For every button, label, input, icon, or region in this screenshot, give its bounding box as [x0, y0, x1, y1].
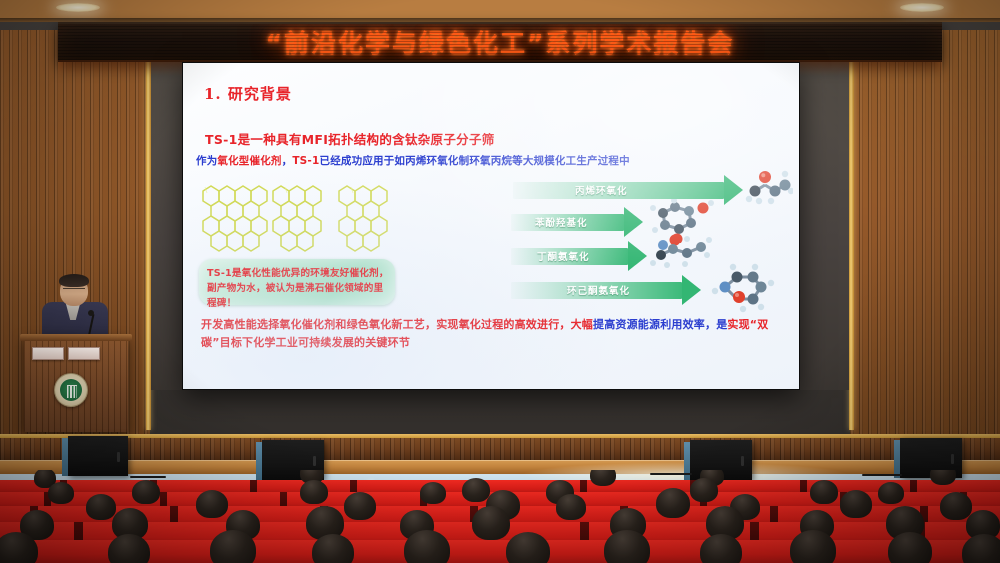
- subline-seg-5: 已经成功应用于如丙烯环氧化制环氧丙烷等大规模化工生产过程中: [320, 155, 630, 167]
- molecule-model: [699, 261, 789, 313]
- reaction-row: 丁酮氨氧化: [511, 241, 647, 271]
- subline-seg-2: 氧化型催化剂: [217, 155, 281, 167]
- audience-head: [132, 480, 160, 504]
- audience-head: [108, 534, 150, 563]
- audience-head: [888, 532, 932, 563]
- audience-head: [196, 490, 228, 518]
- slide-section-title: 1. 研究背景: [204, 83, 292, 104]
- audience-head: [210, 530, 256, 563]
- audience-head: [48, 482, 74, 504]
- lectern-top-edge: [20, 334, 132, 341]
- reaction-row: 环己酮氨氧化: [511, 275, 701, 305]
- zeolite-framework-image: [195, 179, 415, 264]
- audience-head: [556, 494, 586, 520]
- subline-seg-1: 作为: [196, 155, 217, 167]
- ceiling-light-right: [900, 3, 944, 12]
- audience-head: [810, 480, 838, 504]
- audience-head: [590, 470, 616, 486]
- glasses-icon: [63, 288, 85, 293]
- subline-seg-4: TS-1: [292, 155, 319, 167]
- callout-seg-3: 产物为水，被认为是沸石催化领域的里程碑！: [207, 283, 383, 309]
- subline-seg-3: ，: [282, 155, 293, 167]
- nameplate-right: [68, 347, 100, 360]
- audience-head: [940, 492, 972, 520]
- reaction-label: 苯酚羟基化: [535, 215, 588, 229]
- wood-wall-panel-right: [850, 30, 1000, 435]
- audience-head: [506, 532, 550, 563]
- audience-head: [420, 482, 446, 504]
- reaction-row: 苯酚羟基化: [511, 207, 643, 237]
- conclusion-seg-1: 开发高性能选择氧化催化剂和绿色氧化新工艺，实现氧化过程的高效进行，大幅: [201, 318, 593, 331]
- gold-trim-right: [849, 30, 854, 430]
- reaction-label: 丙烯环氧化: [575, 183, 628, 197]
- seat-row: [0, 540, 1000, 563]
- audience-head: [930, 470, 956, 485]
- audience-head: [344, 492, 376, 520]
- highlight-callout-box: TS-1是氧化性能优异的环境友好催化剂，副产物为水，被认为是沸石催化领域的里程碑…: [199, 259, 395, 305]
- molecule-model: [741, 165, 793, 213]
- audience-head: [878, 482, 904, 504]
- led-banner-title: “前沿化学与绿色化工”系列学术报告会: [58, 24, 942, 60]
- audience-head: [462, 478, 490, 502]
- nameplate-left: [32, 347, 64, 360]
- highlight-callout-text: TS-1是氧化性能优异的环境友好催化剂，副产物为水，被认为是沸石催化领域的里程碑…: [207, 266, 389, 311]
- ceiling-light-left: [56, 3, 100, 12]
- audience-head: [656, 488, 690, 518]
- lecture-hall-photo: “前沿化学与绿色化工”系列学术报告会 1. 研究背景 TS-1是一种具有MFI拓…: [0, 0, 1000, 563]
- conclusion-seg-2: 提高资源能源利用效率，是: [593, 318, 727, 331]
- grey-wall-right: [800, 60, 849, 390]
- audience-head: [840, 490, 872, 518]
- audience-head: [312, 534, 354, 563]
- grey-wall-left: [151, 60, 182, 390]
- microphone-icon: [88, 310, 94, 316]
- audience-seating: [0, 470, 1000, 563]
- stage-front-wood-dark: [0, 438, 1000, 460]
- audience-head: [300, 480, 328, 504]
- audience-head: [472, 506, 510, 540]
- led-banner: “前沿化学与绿色化工”系列学术报告会: [58, 22, 942, 62]
- university-emblem-icon: [54, 373, 88, 407]
- callout-seg-1: TS-1: [207, 268, 232, 279]
- presentation-slide: 1. 研究背景 TS-1是一种具有MFI拓扑结构的含钛杂原子分子筛 作为氧化型催…: [183, 63, 799, 389]
- podium-area: [18, 272, 134, 432]
- audience-head: [86, 494, 116, 520]
- slide-conclusion-text: 开发高性能选择氧化催化剂和绿色氧化新工艺，实现氧化过程的高效进行，大幅提高资源能…: [201, 316, 787, 352]
- audience-head: [690, 478, 718, 502]
- slide-subline: 作为氧化型催化剂，TS-1已经成功应用于如丙烯环氧化制环氧丙烷等大规模化工生产过…: [196, 153, 630, 168]
- reaction-label: 环己酮氨氧化: [567, 283, 630, 297]
- speaker-hair: [59, 274, 89, 287]
- audience-head: [604, 530, 650, 563]
- slide-lead-statement: TS-1是一种具有MFI拓扑结构的含钛杂原子分子筛: [205, 129, 495, 148]
- audience-head: [790, 530, 836, 563]
- audience-head: [404, 530, 450, 563]
- audience-head: [700, 534, 742, 563]
- reaction-label: 丁酮氨氧化: [537, 249, 590, 263]
- reaction-arrow-group: 丙烯环氧化: [513, 175, 791, 315]
